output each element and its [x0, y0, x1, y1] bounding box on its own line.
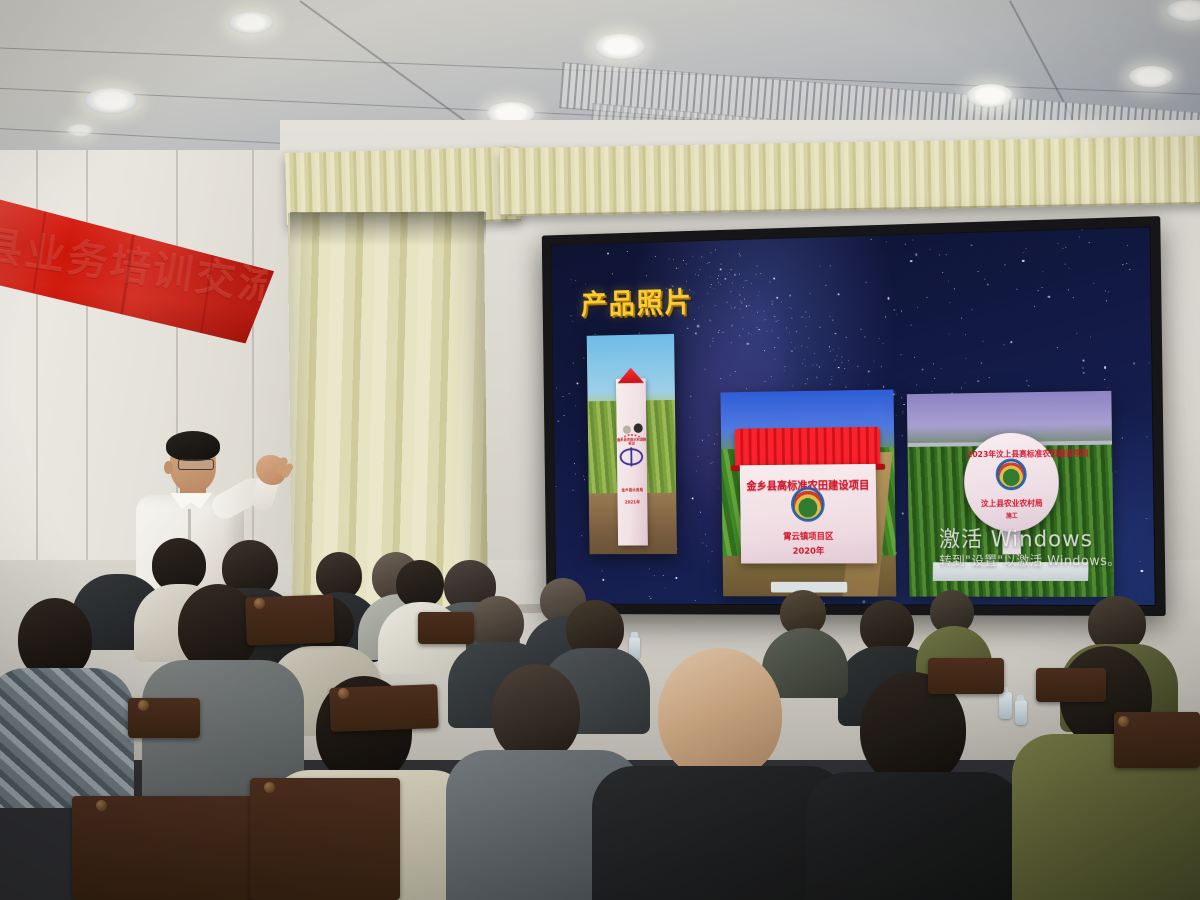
auditorium-seat[interactable] — [250, 778, 400, 900]
auditorium-seat[interactable] — [928, 658, 1004, 694]
watermark-line-1: 激活 Windows — [939, 527, 1121, 553]
ceiling-downlight — [594, 34, 646, 60]
windows-activation-watermark: 激活 Windows 转到"设置"以激活 Windows。 — [939, 527, 1121, 571]
ceiling-downlight — [228, 12, 274, 34]
ceiling-downlight — [966, 84, 1014, 108]
sign-board-center: 金乡县高标准农田建设项目 霄云镇项目区 2020年 — [740, 464, 876, 563]
slide-photo-left: 金乡县农田水利设施标识 金乡县水务局 2021年 — [587, 334, 677, 554]
auditorium-seat[interactable] — [1036, 668, 1106, 702]
center-sign-sub-1: 霄云镇项目区 — [741, 530, 876, 543]
water-bureau-emblem — [620, 448, 644, 465]
curtain-valance-right — [499, 136, 1200, 216]
agriculture-emblem — [997, 460, 1026, 490]
standing-speaker — [118, 425, 308, 600]
center-sign-sub-2: 2020年 — [741, 544, 876, 557]
ceiling-downlight — [1128, 66, 1174, 88]
speaker-ear — [164, 461, 173, 474]
round-sign-board: 2023年汶上县高标准农田建设项目 汶上县农业农村局 施工 — [964, 433, 1059, 532]
speaker-glasses — [178, 459, 214, 470]
slide-title: 产品照片 — [581, 280, 693, 323]
pillar-dark-dot — [634, 424, 643, 434]
led-presentation-screen[interactable]: 产品照片 金乡县农田水利设施标识 金乡县水务局 2021年 — [542, 216, 1166, 616]
watermark-line-2: 转到"设置"以激活 Windows。 — [939, 554, 1120, 572]
ceiling-downlight — [66, 124, 94, 137]
speaker-hair — [166, 431, 220, 461]
slide-photo-center: 金乡县高标准农田建设项目 霄云镇项目区 2020年 — [720, 390, 896, 597]
pillar-arc-caption: 金乡县农田水利设施标识 — [617, 438, 647, 446]
pillar-sub-1: 金乡县水务局 — [617, 489, 647, 493]
seat-knob — [264, 782, 275, 793]
slide-canvas: 产品照片 金乡县农田水利设施标识 金乡县水务局 2021年 — [552, 227, 1155, 605]
ceiling-downlight — [84, 88, 138, 114]
pillar-sub-2: 2021年 — [618, 502, 648, 507]
right-sign-sub-2: 施工 — [965, 510, 1059, 519]
seat-knob — [254, 598, 265, 609]
seat-knob — [1118, 716, 1129, 727]
seat-knob — [96, 800, 107, 811]
ceiling-downlight — [1166, 0, 1200, 22]
seat-knob — [138, 700, 149, 711]
water-bottle — [999, 692, 1012, 719]
photo-scene: 县业务培训交流会 产品照片 金乡县农田水利设施标识 金乡 — [0, 0, 1200, 900]
pillar-marker: 金乡县农田水利设施标识 金乡县水务局 2021年 — [616, 378, 648, 545]
red-roof — [735, 427, 881, 468]
right-sign-sub-1: 汶上县农业农村局 — [965, 498, 1059, 509]
auditorium-seat[interactable] — [418, 612, 474, 644]
water-bottle — [1015, 700, 1027, 725]
seat-knob — [338, 688, 349, 699]
agriculture-emblem — [792, 488, 824, 521]
